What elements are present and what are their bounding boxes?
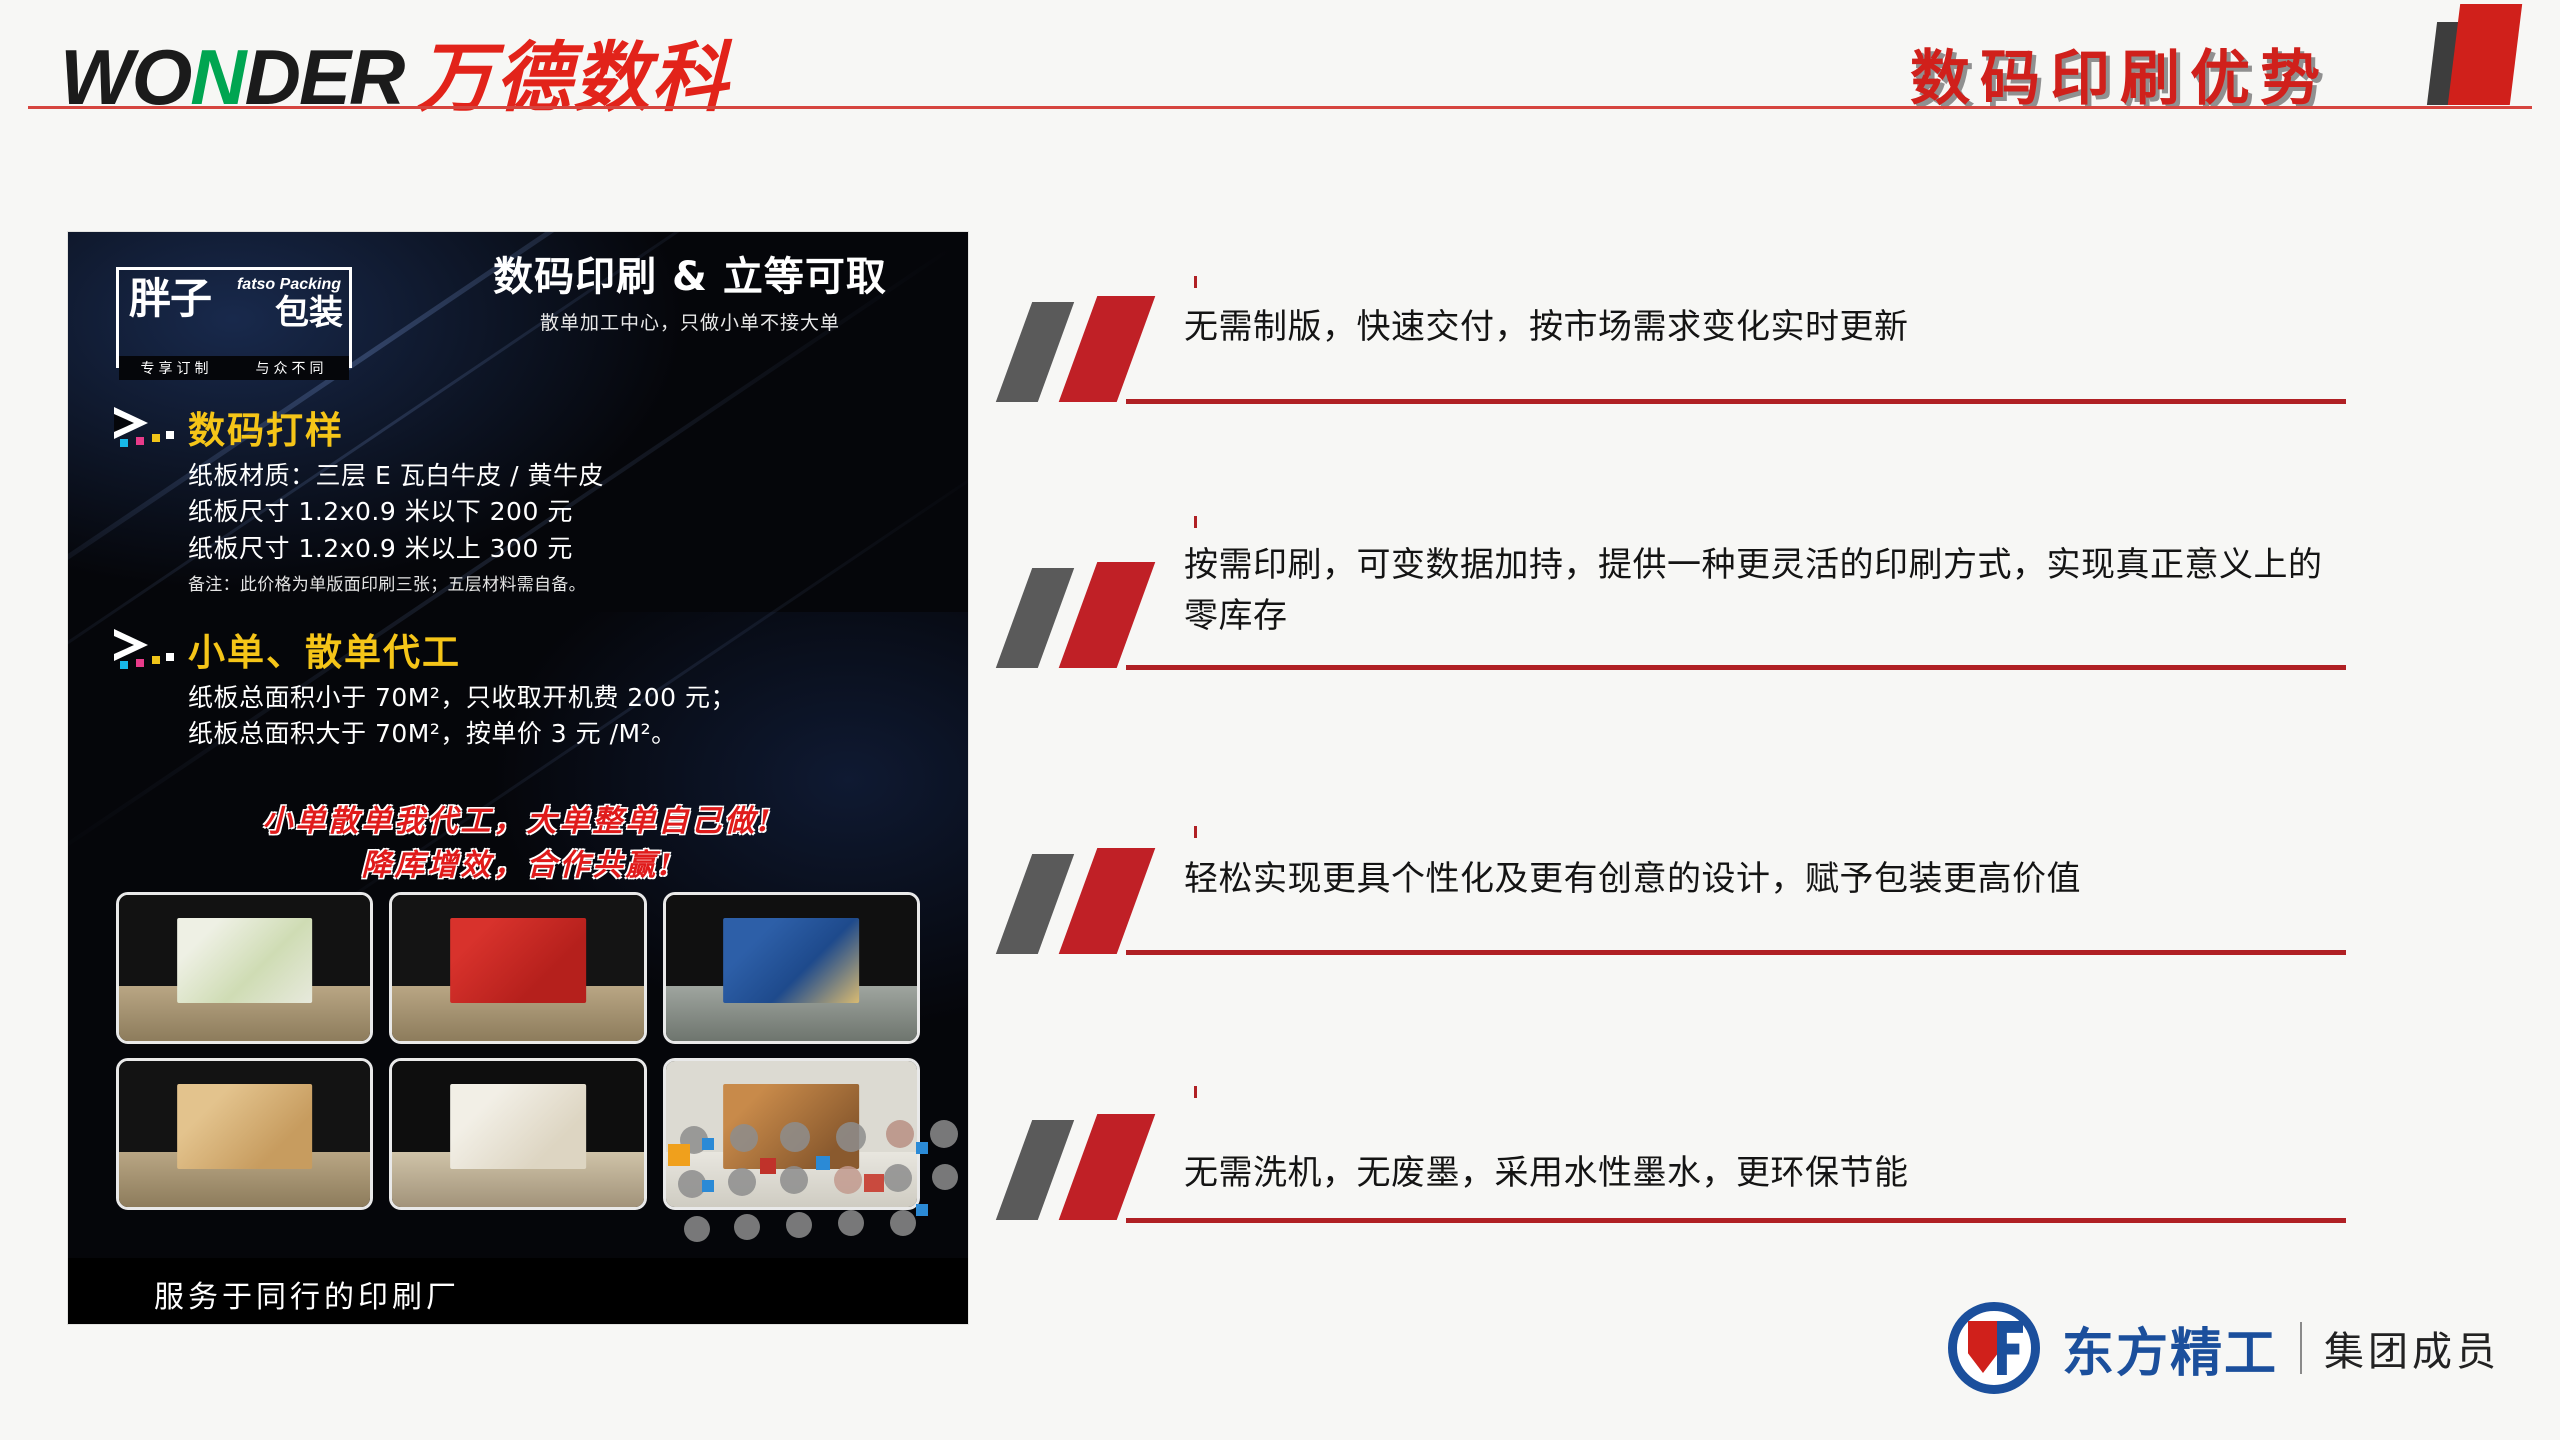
benefit-text: 无需制版，快速交付，按市场需求变化实时更新 [1184, 302, 2334, 353]
bullet-gray-bar [996, 1120, 1074, 1220]
corner-decoration-icon [2422, 0, 2532, 105]
dongfang-emblem-icon [1948, 1302, 2040, 1394]
fatso-tagline-left: 专享订制 [141, 358, 213, 378]
poster-heading-block: 数码印刷 & 立等可取 散单加工中心，只做小单不接大单 [440, 254, 940, 335]
benefit-text: 无需洗机，无废墨，采用水性墨水，更环保节能 [1184, 1148, 2334, 1199]
bullet-marker-icon [1006, 1114, 1206, 1224]
product-photo [116, 1058, 373, 1210]
bullet-red-bar [1059, 1114, 1156, 1220]
poster-footer-bar: 服务于同行的印刷厂 [68, 1258, 968, 1324]
brand-latin-part-2: N [190, 38, 244, 116]
bullet-red-bar [1059, 296, 1156, 402]
section-line: 纸板尺寸 1.2x0.9 米以下 200 元 [188, 494, 930, 530]
bullet-red-bar [1059, 562, 1156, 668]
bullet-gray-bar [996, 854, 1074, 954]
fatso-logo-main-text: 胖子 [129, 278, 211, 320]
fatso-logo-secondary-text: 包装 [275, 296, 343, 330]
decorative-dot-pattern [668, 1108, 968, 1278]
page-header: WO N DER 万德数科 数码印刷优势 [0, 0, 2560, 110]
bullet-marker-icon [1006, 296, 1206, 406]
tick-mark [1194, 276, 1197, 288]
section-body: 纸板总面积小于 70M²，只收取开机费 200 元； 纸板总面积大于 70M²，… [188, 680, 930, 753]
group-company-name: 东方精工 [2062, 1311, 2278, 1386]
product-photo [389, 892, 646, 1044]
brand-latin-part-1: WO [60, 38, 190, 116]
bullet-red-bar [1059, 848, 1156, 954]
slogan-line-2: 降库增效，合作共赢! [68, 844, 968, 888]
page-title: 数码印刷优势 [1910, 30, 2330, 117]
section-line: 纸板尺寸 1.2x0.9 米以上 300 元 [188, 531, 930, 567]
group-member-label: 集团成员 [2324, 1319, 2500, 1377]
section-note: 备注：此价格为单版面印刷三张；五层材料需自备。 [188, 570, 930, 595]
product-photo [389, 1058, 646, 1210]
product-photo [116, 892, 373, 1044]
fatso-packing-logo: 胖子 fatso Packing 包装 专享订制 与众不同 [116, 267, 352, 368]
tick-mark [1194, 516, 1197, 528]
bullet-gray-bar [996, 568, 1074, 668]
header-divider [28, 106, 2532, 109]
brand-latin-part-3: DER [245, 38, 404, 116]
group-member-logo: 东方精工 集团成员 [1948, 1302, 2500, 1394]
arrow-marker-icon [110, 627, 188, 671]
section-title: 数码打样 [188, 400, 344, 454]
section-title: 小单、散单代工 [188, 622, 461, 676]
benefit-underline [1126, 665, 2346, 670]
emblem-shield-shape [1968, 1321, 1998, 1373]
poster-footer-text: 服务于同行的印刷厂 [154, 1272, 460, 1316]
section-header: 数码打样 [110, 400, 930, 454]
poster-heading: 数码印刷 & 立等可取 [440, 254, 940, 300]
bullet-gray-bar [996, 302, 1074, 402]
fatso-tagline-right: 与众不同 [256, 358, 328, 378]
bullet-marker-icon [1006, 562, 1206, 672]
promo-poster-image: 胖子 fatso Packing 包装 专享订制 与众不同 数码印刷 & 立等可… [68, 232, 968, 1324]
poster-section-digital-proofing: 数码打样 纸板材质：三层 E 瓦白牛皮 / 黄牛皮 纸板尺寸 1.2x0.9 米… [110, 400, 930, 595]
poster-section-small-order-oem: 小单、散单代工 纸板总面积小于 70M²，只收取开机费 200 元； 纸板总面积… [110, 622, 930, 753]
brand-logo: WO N DER 万德数科 [60, 38, 729, 116]
arrow-marker-icon [110, 405, 188, 449]
brand-chinese-name: 万德数科 [417, 40, 729, 116]
bullet-marker-icon [1006, 848, 1206, 958]
poster-subheading: 散单加工中心，只做小单不接大单 [440, 308, 940, 335]
section-line: 纸板材质：三层 E 瓦白牛皮 / 黄牛皮 [188, 458, 930, 494]
tick-mark [1194, 1086, 1197, 1098]
benefit-text: 按需印刷，可变数据加持，提供一种更灵活的印刷方式，实现真正意义上的零库存 [1184, 540, 2334, 642]
corner-red-shape [2448, 4, 2522, 105]
benefit-text: 轻松实现更具个性化及更有创意的设计，赋予包装更高价值 [1184, 854, 2334, 905]
section-line: 纸板总面积小于 70M²，只收取开机费 200 元； [188, 680, 930, 716]
poster-slogan: 小单散单我代工，大单整单自己做! 降库增效，合作共赢! [68, 800, 968, 887]
fatso-logo-english-text: fatso Packing [237, 276, 341, 294]
benefit-underline [1126, 399, 2346, 404]
benefit-underline [1126, 1218, 2346, 1223]
section-line: 纸板总面积大于 70M²，按单价 3 元 /M²。 [188, 716, 930, 752]
emblem-letter-f-shape [1997, 1321, 2023, 1375]
section-header: 小单、散单代工 [110, 622, 930, 676]
section-body: 纸板材质：三层 E 瓦白牛皮 / 黄牛皮 纸板尺寸 1.2x0.9 米以下 20… [188, 458, 930, 595]
fatso-logo-taglines: 专享订制 与众不同 [119, 356, 349, 380]
tick-mark [1194, 826, 1197, 838]
benefit-underline [1126, 950, 2346, 955]
footer-divider [2300, 1322, 2302, 1374]
product-photo [663, 892, 920, 1044]
slogan-line-1: 小单散单我代工，大单整单自己做! [68, 800, 968, 844]
